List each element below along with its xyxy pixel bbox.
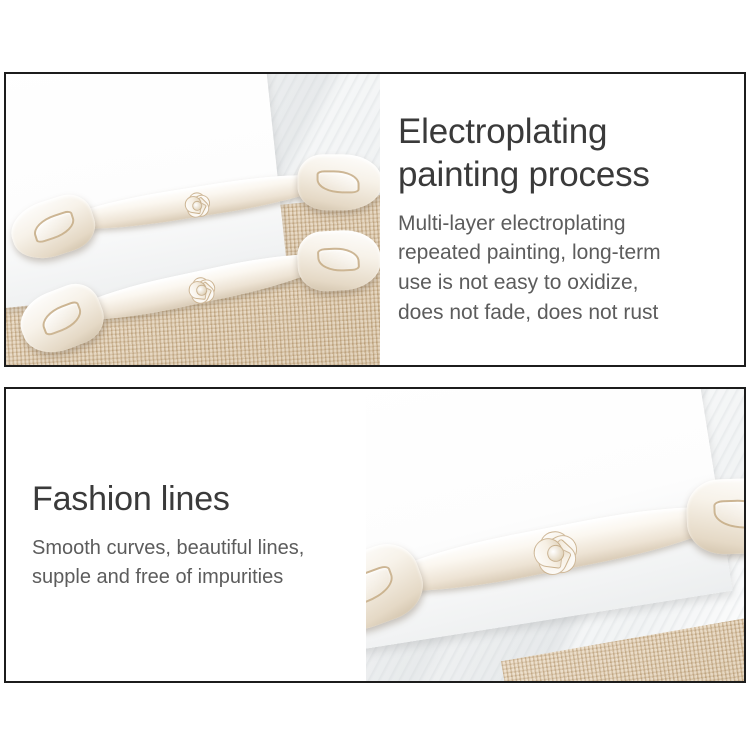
handle-foot-right: [686, 477, 744, 556]
section-body-text: Multi-layer electroplating repeated pain…: [398, 209, 738, 328]
section-headline: Fashion lines: [32, 479, 356, 520]
scroll-ornament-icon: [317, 170, 360, 193]
flower-rosette-icon: [519, 516, 592, 589]
product-photo-handle-closeup: [366, 389, 744, 681]
handle-foot-left: [366, 535, 432, 643]
section-text-electroplating: Electroplating painting process Multi-la…: [380, 74, 744, 365]
scroll-ornament-icon: [39, 299, 87, 337]
section-panel-fashion-lines: Fashion lines Smooth curves, beautiful l…: [4, 387, 746, 683]
handle-foot-left: [6, 188, 102, 267]
section-body-text: Smooth curves, beautiful lines, supple a…: [32, 534, 356, 591]
flower-rosette-icon: [177, 185, 216, 224]
scroll-ornament-icon: [31, 209, 79, 244]
scroll-ornament-icon: [714, 499, 744, 530]
handle-foot-right: [296, 228, 380, 292]
section-text-fashion-lines: Fashion lines Smooth curves, beautiful l…: [6, 389, 366, 681]
section-panel-electroplating: Electroplating painting process Multi-la…: [4, 72, 746, 367]
flower-rosette-icon: [179, 268, 222, 311]
scroll-ornament-icon: [316, 246, 359, 272]
product-photo-handles-on-mat: [6, 74, 380, 365]
section-headline: Electroplating painting process: [398, 111, 738, 196]
scroll-ornament-icon: [366, 564, 399, 611]
handle-foot-right: [298, 154, 380, 210]
